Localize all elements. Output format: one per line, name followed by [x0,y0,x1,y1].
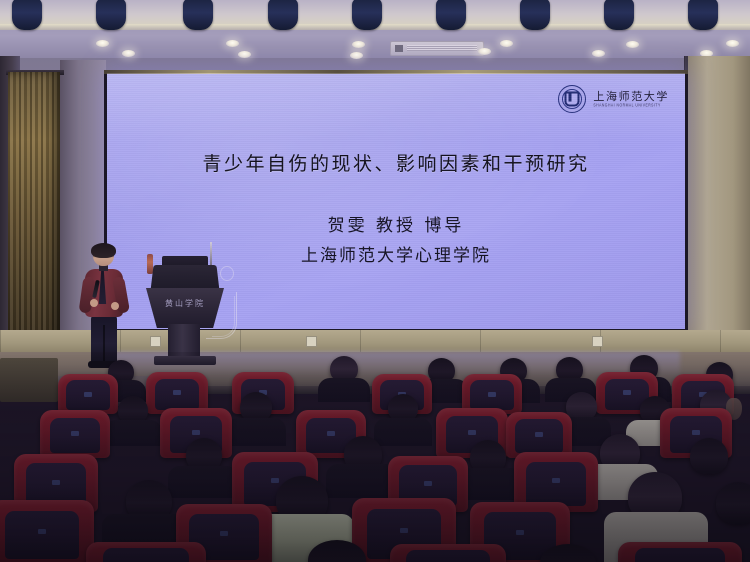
downlight-icon [226,40,239,47]
ceiling-air-vent-icon [390,41,484,56]
stage-light-icon [268,0,298,30]
auditorium-seat[interactable] [618,542,742,562]
audience-area [0,352,750,562]
university-seal-icon [558,85,586,113]
stage-light-icon [688,0,718,30]
downlight-icon [350,52,363,59]
audience-shoulders [168,466,238,498]
wall-outlet-icon [592,336,603,347]
stage-light-icon [183,0,213,30]
stage-light-icon [604,0,634,30]
downlight-icon [352,41,365,48]
downlight-icon [500,40,513,47]
slide-title: 青少年自伤的现状、影响因素和干预研究 [107,149,685,176]
downlight-icon [626,41,639,48]
downlight-icon [238,51,251,58]
cable [212,296,235,337]
downlight-icon [122,50,135,57]
stage-light-icon [520,0,550,30]
stage-light-icon [436,0,466,30]
stage-curtain [8,72,60,344]
auditorium-seat[interactable] [58,374,118,414]
logo-institution-en: SHANGHAI NORMAL UNIVERSITY [593,104,669,108]
audience-shoulders [226,418,286,446]
downlight-icon [726,40,739,47]
audience-shoulders [374,418,432,446]
auditorium-seat[interactable] [86,542,206,562]
audience-head [716,482,750,524]
auditorium-seat[interactable] [40,410,110,458]
stage-light-icon [12,0,42,30]
stage-light-icon [352,0,382,30]
stage-light-icon [96,0,126,30]
downlight-icon [592,50,605,57]
downlight-icon [478,48,491,55]
auditorium-seat[interactable] [390,544,506,562]
audience-head [690,438,728,474]
audience-shoulders [104,420,162,446]
slide-presenter-line: 贺雯 教授 博导 [107,211,685,236]
right-wall-column [686,56,750,356]
side-desk [0,358,58,402]
auditorium-photo: 上海师范大学 SHANGHAI NORMAL UNIVERSITY 青少年自伤的… [0,0,750,562]
screen-top-light-strip [104,70,688,74]
auditorium-seat[interactable] [0,500,94,562]
audience-shoulders [318,378,370,402]
wall-outlet-icon [306,336,317,347]
cable-loop [220,266,234,281]
logo-institution-cn: 上海师范大学 [593,91,669,102]
slide-logo: 上海师范大学 SHANGHAI NORMAL UNIVERSITY [558,85,669,113]
downlight-icon [96,40,109,47]
